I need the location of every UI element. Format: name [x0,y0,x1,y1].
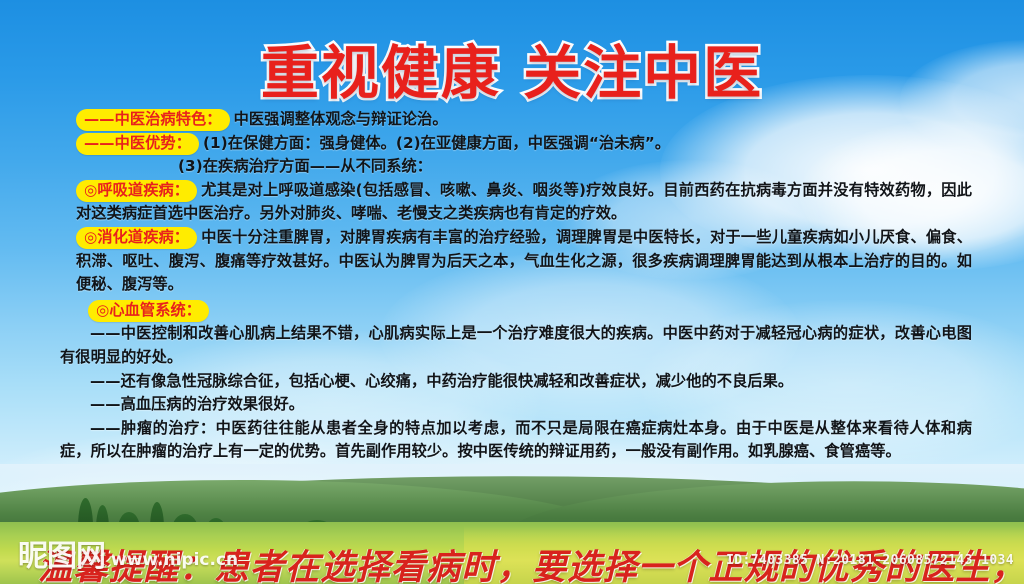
section-body-text: (3)在疾病治疗方面——从不同系统： [178,157,432,175]
section-tag-label: ——中医治病特色： [76,109,230,131]
section-body-text: 尤其是对上呼吸道感染(包括感冒、咳嗽、鼻炎、咽炎等)疗效良好。目前西药在抗病毒方… [76,181,972,223]
section-body-text: 中医强调整体观念与辩证论治。 [234,110,448,128]
poster-body: ——中医治病特色：中医强调整体观念与辩证论治。 ——中医优势：(1)在保健方面：… [60,108,972,464]
section-tag-label: ◎消化道疾病： [76,227,197,249]
section-tcm-advantages: ——中医优势：(1)在保健方面：强身健体。(2)在亚健康方面，中医强调“治未病”… [76,132,972,156]
section-respiratory: ◎呼吸道疾病：尤其是对上呼吸道感染(包括感冒、咳嗽、鼻炎、咽炎等)疗效良好。目前… [76,179,972,226]
section-body-text: ——还有像急性冠脉综合征，包括心梗、心绞痛，中药治疗能很快减轻和改善症状，减少他… [90,372,793,390]
section-body-text: ——高血压病的治疗效果很好。 [90,395,304,413]
section-tag-label: ◎呼吸道疾病： [76,180,197,202]
section-tcm-advantages-line3: (3)在疾病治疗方面——从不同系统： [60,155,972,179]
section-tcm-features: ——中医治病特色：中医强调整体观念与辩证论治。 [76,108,972,132]
section-digestive: ◎消化道疾病：中医十分注重脾胃，对脾胃疾病有丰富的治疗经验，调理脾胃是中医特长，… [76,226,972,297]
section-tag-label: ◎心血管系统： [88,300,209,322]
section-tag-label: ——中医优势： [76,133,199,155]
section-cardiovascular-heading: ◎心血管系统： [88,299,972,323]
section-body-text: 中医十分注重脾胃，对脾胃疾病有丰富的治疗经验，调理脾胃是中医特长，对于一些儿童疾… [76,228,972,293]
section-cardiovascular-item: ——高血压病的治疗效果很好。 [60,393,972,417]
section-cardiovascular-item: ——还有像急性冠脉综合征，包括心梗、心绞痛，中药治疗能很快减轻和改善症状，减少他… [60,370,972,394]
section-tumor-item: ——肿瘤的治疗：中医药往往能从患者全身的特点加以考虑，而不只是局限在癌症病灶本身… [60,417,972,464]
page-title: 重视健康 关注中医 [0,26,1024,110]
section-cardiovascular-item: ——中医控制和改善心肌病上结果不错，心肌病实际上是一个治疗难度很大的疾病。中医中… [60,322,972,369]
section-body-text: (1)在保健方面：强身健体。(2)在亚健康方面，中医强调“治未病”。 [203,134,670,152]
bottom-slogan: 温馨提醒：患者在选择看病时，要选择一个正规的优秀的医生，这才是最重要的！ [38,539,979,584]
section-body-text: ——肿瘤的治疗：中医药往往能从患者全身的特点加以考虑，而不只是局限在癌症病灶本身… [60,419,972,461]
section-body-text: ——中医控制和改善心肌病上结果不错，心肌病实际上是一个治疗难度很大的疾病。中医中… [60,324,972,366]
poster-canvas: 重视健康 关注中医 ——中医治病特色：中医强调整体观念与辩证论治。 ——中医优势… [0,0,1024,584]
